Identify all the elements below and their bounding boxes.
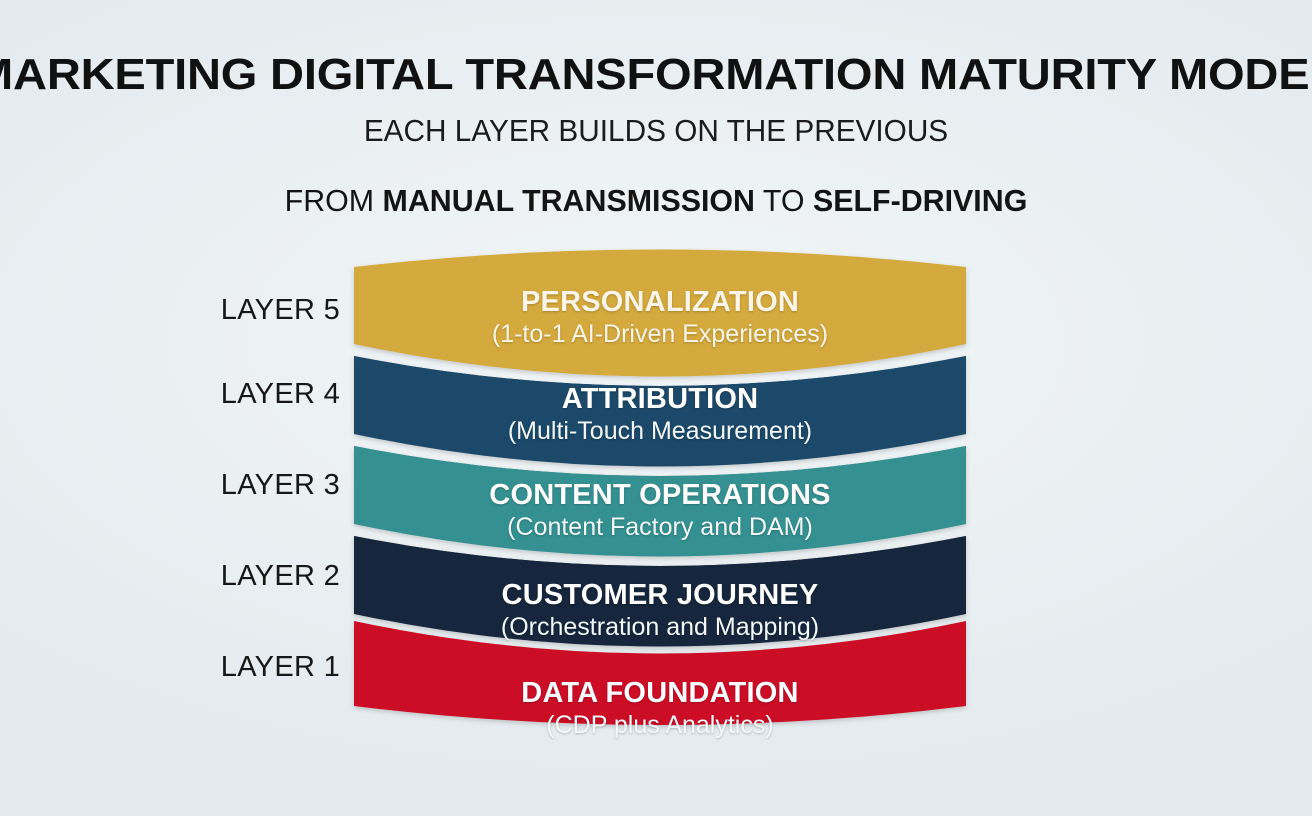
tagline-middle: TO <box>755 183 813 218</box>
page-tagline: FROM MANUAL TRANSMISSION TO SELF-DRIVING <box>13 183 1299 219</box>
tagline-emphasis-selfdriving: SELF-DRIVING <box>813 183 1027 218</box>
layer-label-5: LAYER 5 <box>160 294 340 327</box>
stack-svg <box>340 236 980 756</box>
layer-label-2: LAYER 2 <box>160 560 340 593</box>
page-title: MARKETING DIGITAL TRANSFORMATION MATURIT… <box>0 50 1312 100</box>
layer-label-1: LAYER 1 <box>160 651 340 684</box>
diagram-stage: MARKETING DIGITAL TRANSFORMATION MATURIT… <box>0 0 1312 816</box>
tagline-lead: FROM <box>285 183 383 218</box>
layer-shape-5[interactable] <box>354 250 966 377</box>
layer-label-4: LAYER 4 <box>160 378 340 411</box>
tagline-emphasis-manual: MANUAL TRANSMISSION <box>383 183 755 218</box>
layer-label-3: LAYER 3 <box>160 469 340 502</box>
maturity-stack <box>340 236 980 756</box>
page-subtitle: EACH LAYER BUILDS ON THE PREVIOUS <box>26 113 1286 149</box>
